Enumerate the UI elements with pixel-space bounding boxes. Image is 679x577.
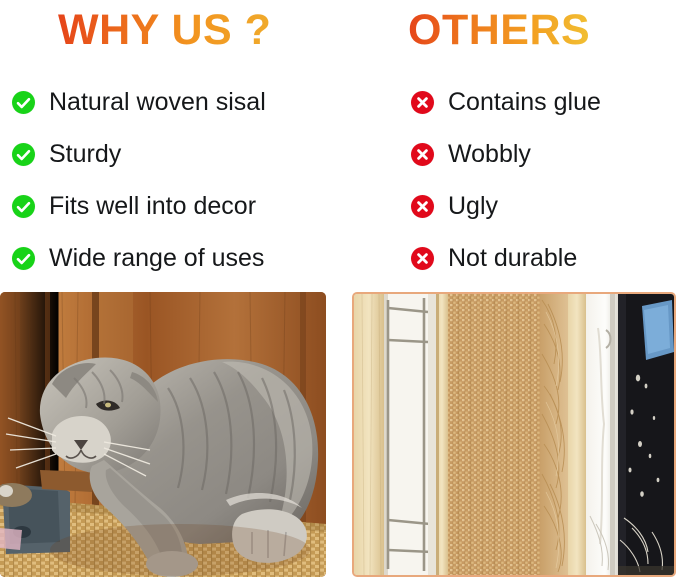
check-circle-icon [12,91,35,114]
cross-circle-icon [411,247,434,270]
list-item-label: Wobbly [448,141,531,167]
page-title-why-us: WHY US ? [58,0,271,60]
list-item-label: Not durable [448,245,577,271]
list-item-label: Contains glue [448,89,601,115]
list-item: Wobbly [411,128,673,180]
check-circle-icon [12,143,35,166]
pros-list: Natural woven sisal Sturdy Fits well int… [12,76,332,284]
cons-list: Contains glue Wobbly Ugly [411,76,673,284]
page-title-others: OTHERS [408,0,590,60]
list-item-label: Sturdy [49,141,121,167]
list-item: Wide range of uses [12,232,332,284]
list-item: Natural woven sisal [12,76,332,128]
product-photo-cat-on-sisal-mat [0,292,326,577]
list-item-label: Wide range of uses [49,245,264,271]
check-circle-icon [12,195,35,218]
list-item-label: Ugly [448,193,498,219]
check-circle-icon [12,247,35,270]
list-item-label: Natural woven sisal [49,89,266,115]
list-item-label: Fits well into decor [49,193,256,219]
headings-row: WHY US ? OTHERS [0,0,679,62]
list-item: Not durable [411,232,673,284]
list-item: Fits well into decor [12,180,332,232]
cross-circle-icon [411,91,434,114]
comparison-infographic: WHY US ? OTHERS Natural woven sisal Stur… [0,0,679,577]
list-item: Contains glue [411,76,673,128]
list-item: Ugly [411,180,673,232]
cross-circle-icon [411,143,434,166]
list-item: Sturdy [12,128,332,180]
product-photo-frayed-sisal-matting [352,292,676,577]
cross-circle-icon [411,195,434,218]
